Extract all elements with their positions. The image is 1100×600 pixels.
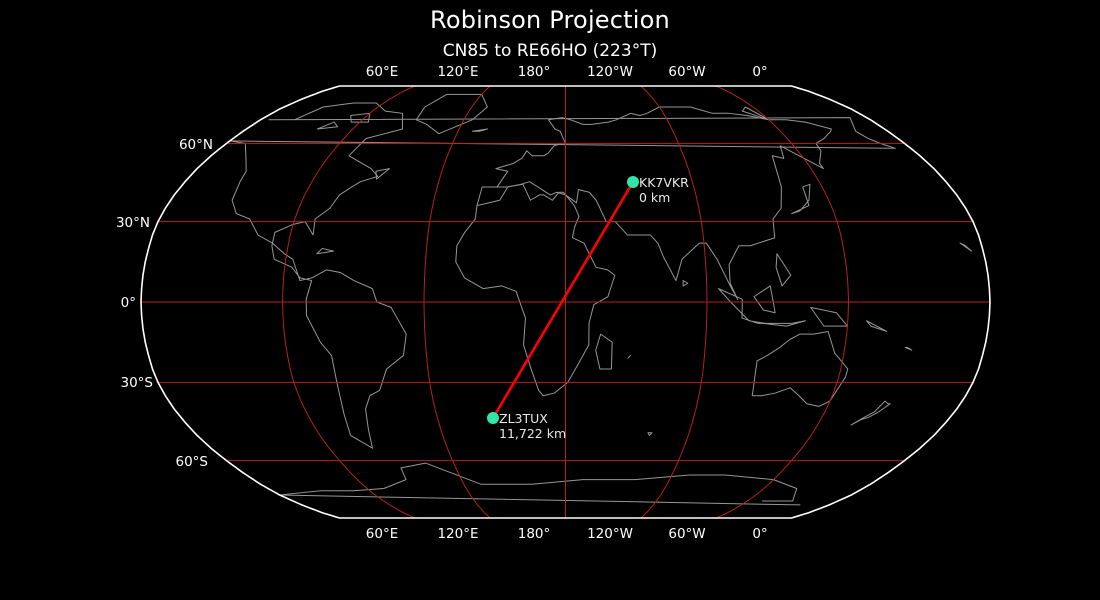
- station-callsign-ZL3TUX: ZL3TUX: [499, 411, 548, 426]
- lon-tick-top-60: 60°E: [366, 64, 398, 80]
- lat-tick--60: 60°S: [176, 454, 209, 470]
- station-marker-KK7VKR[interactable]: [627, 176, 639, 188]
- lat-tick--30: 30°S: [121, 375, 154, 391]
- station-distance-KK7VKR: 0 km: [639, 190, 670, 205]
- lon-tick-bottom-180: 180°: [518, 526, 551, 542]
- longitude-ticks-top: 60°E120°E180°120°W60°W0°: [366, 64, 768, 80]
- lon-tick-top--120: 120°W: [587, 64, 633, 80]
- lat-tick-60: 60°N: [179, 137, 213, 153]
- lon-tick-top-180: 180°: [518, 64, 551, 80]
- ocean-background: [0, 0, 1100, 600]
- lon-tick-bottom-60: 60°E: [366, 526, 398, 542]
- lat-tick-30: 30°N: [116, 215, 150, 231]
- lat-tick-0: 0°: [121, 295, 136, 311]
- station-marker-ZL3TUX[interactable]: [487, 412, 499, 424]
- map-body: [0, 0, 1100, 600]
- robinson-map: 60°E120°E180°120°W60°W0° 60°E120°E180°12…: [0, 0, 1100, 600]
- lon-tick-bottom-120: 120°E: [437, 526, 478, 542]
- lon-tick-top-0: 0°: [752, 64, 767, 80]
- lon-tick-bottom--120: 120°W: [587, 526, 633, 542]
- station-distance-ZL3TUX: 11,722 km: [499, 426, 566, 441]
- lon-tick-top--60: 60°W: [668, 64, 705, 80]
- lon-tick-bottom--60: 60°W: [668, 526, 705, 542]
- station-callsign-KK7VKR: KK7VKR: [639, 175, 689, 190]
- lon-tick-top-120: 120°E: [437, 64, 478, 80]
- longitude-ticks-bottom: 60°E120°E180°120°W60°W0°: [366, 526, 768, 542]
- lon-tick-bottom-0: 0°: [752, 526, 767, 542]
- map-figure: Robinson Projection CN85 to RE66HO (223°…: [0, 0, 1100, 600]
